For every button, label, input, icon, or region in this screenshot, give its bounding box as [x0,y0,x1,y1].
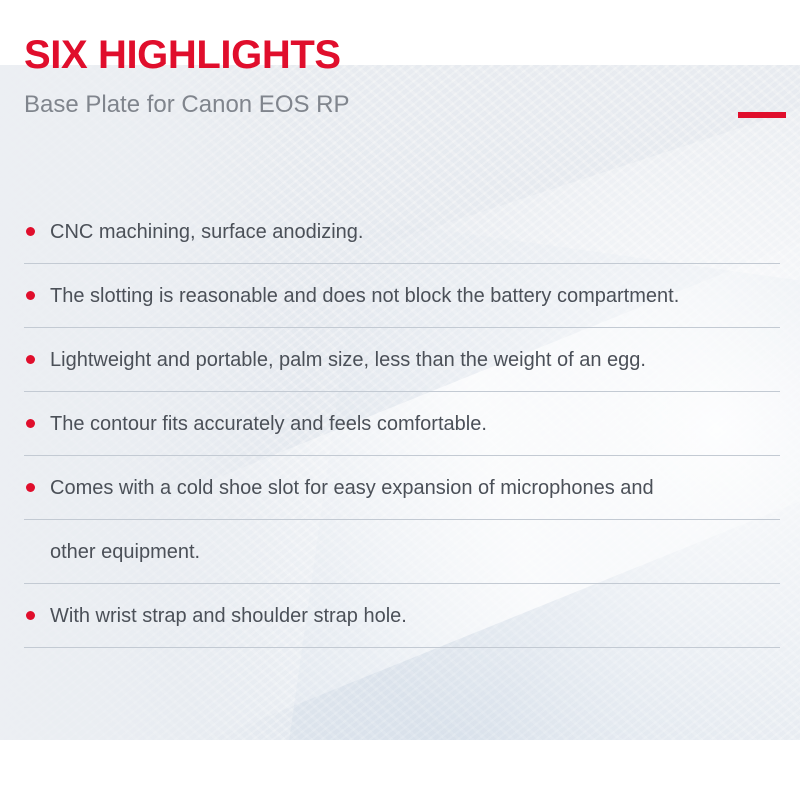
bullet-icon [26,291,35,300]
bullet-icon [26,355,35,364]
list-item-text: other equipment. [50,540,200,564]
page-header: SIX HIGHLIGHTS Base Plate for Canon EOS … [24,35,350,117]
page-title: SIX HIGHLIGHTS [24,35,350,75]
list-item-text: The slotting is reasonable and does not … [50,284,679,308]
list-item: Lightweight and portable, palm size, les… [24,328,780,392]
list-item-text: The contour fits accurately and feels co… [50,412,487,436]
bullet-icon [26,483,35,492]
list-item-text: Lightweight and portable, palm size, les… [50,348,646,372]
bullet-icon [26,611,35,620]
bullet-icon-placeholder [26,547,35,556]
page-subtitle: Base Plate for Canon EOS RP [24,75,350,117]
list-item: The contour fits accurately and feels co… [24,392,780,456]
list-item-continuation: other equipment. [24,520,780,584]
list-item: With wrist strap and shoulder strap hole… [24,584,780,648]
list-item: CNC machining, surface anodizing. [24,200,780,264]
list-item: The slotting is reasonable and does not … [24,264,780,328]
list-item-text: With wrist strap and shoulder strap hole… [50,604,407,628]
bullet-icon [26,419,35,428]
list-item: Comes with a cold shoe slot for easy exp… [24,456,780,520]
accent-dash-decoration [738,112,786,118]
bullet-icon [26,227,35,236]
list-item-text: CNC machining, surface anodizing. [50,220,364,244]
list-item-text: Comes with a cold shoe slot for easy exp… [50,476,654,500]
highlights-list: CNC machining, surface anodizing. The sl… [24,200,780,648]
product-highlights-page: SIX HIGHLIGHTS Base Plate for Canon EOS … [0,0,800,800]
